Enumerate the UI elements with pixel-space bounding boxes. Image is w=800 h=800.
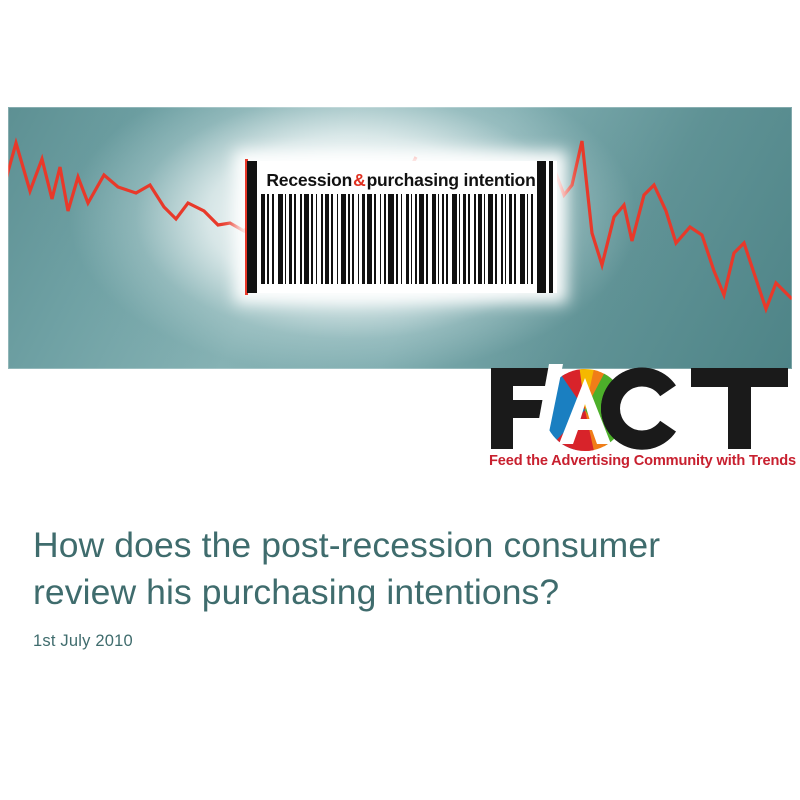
barcode-bar [337, 194, 338, 284]
fact-logo-tagline: Feed the Advertising Community with Tren… [489, 453, 792, 469]
barcode-graphic: Recession & purchasing intention [245, 161, 557, 293]
barcode-bar [419, 194, 424, 284]
barcode-bar [468, 194, 470, 284]
barcode-bar [358, 194, 359, 284]
barcode-bar [316, 194, 317, 284]
barcode-bar [261, 194, 265, 284]
barcode-label-ampersand: & [352, 170, 366, 191]
barcode-bar [463, 194, 466, 284]
barcode-bar [267, 194, 269, 284]
barcode-bar [520, 194, 525, 284]
barcode-bar [495, 194, 497, 284]
barcode-bar [415, 194, 417, 284]
barcode-bars [245, 194, 557, 284]
barcode-bar [401, 194, 402, 284]
barcode-bar [321, 194, 323, 284]
barcode-bar [442, 194, 444, 284]
barcode-bar [374, 194, 376, 284]
barcode-bar [396, 194, 398, 284]
barcode-bar [446, 194, 448, 284]
barcode-bar [478, 194, 482, 284]
barcode-bar [325, 194, 329, 284]
barcode-bar [289, 194, 292, 284]
page-title: How does the post-recession consumer rev… [33, 522, 763, 616]
barcode-label-text: Recession & purchasing intention [245, 165, 557, 195]
barcode-bar [367, 194, 372, 284]
barcode-bar [406, 194, 409, 284]
barcode-bar [488, 194, 493, 284]
barcode-bar [411, 194, 412, 284]
barcode-bar [285, 194, 286, 284]
barcode-bar [452, 194, 457, 284]
barcode-bar [272, 194, 274, 284]
barcode-bar [352, 194, 354, 284]
barcode-bar [294, 194, 296, 284]
logo-letter-t [691, 368, 788, 449]
fact-logo: Feed the Advertising Community with Tren… [487, 364, 792, 480]
barcode-bar [311, 194, 313, 284]
barcode-label-prefix: Recession [266, 170, 352, 191]
slide-date: 1st July 2010 [33, 632, 763, 651]
fact-logo-svg [487, 364, 792, 452]
barcode-bar [388, 194, 394, 284]
barcode-bar [474, 194, 476, 284]
barcode-bar [484, 194, 485, 284]
barcode-bar [432, 194, 436, 284]
barcode-bar [304, 194, 309, 284]
barcode-bar [278, 194, 283, 284]
title-block: How does the post-recession consumer rev… [33, 522, 763, 651]
fact-logo-mark [487, 364, 792, 452]
barcode-bar [384, 194, 386, 284]
barcode-bar [341, 194, 346, 284]
barcode-bar [527, 194, 528, 284]
barcode-bar [426, 194, 428, 284]
barcode-bar [459, 194, 460, 284]
barcode-bar [531, 194, 533, 284]
barcode-bar [501, 194, 503, 284]
banner-image: Recession & purchasing intention [8, 107, 792, 369]
barcode-label-suffix: purchasing intention [367, 170, 536, 191]
barcode-bar [509, 194, 512, 284]
barcode-bar [362, 194, 365, 284]
barcode-bar [438, 194, 439, 284]
barcode-bar [300, 194, 302, 284]
barcode-bar [380, 194, 381, 284]
barcode-bar [505, 194, 506, 284]
barcode-bar [514, 194, 516, 284]
slide-canvas: Recession & purchasing intention [0, 0, 800, 800]
barcode-bar [348, 194, 350, 284]
barcode-bar [331, 194, 333, 284]
